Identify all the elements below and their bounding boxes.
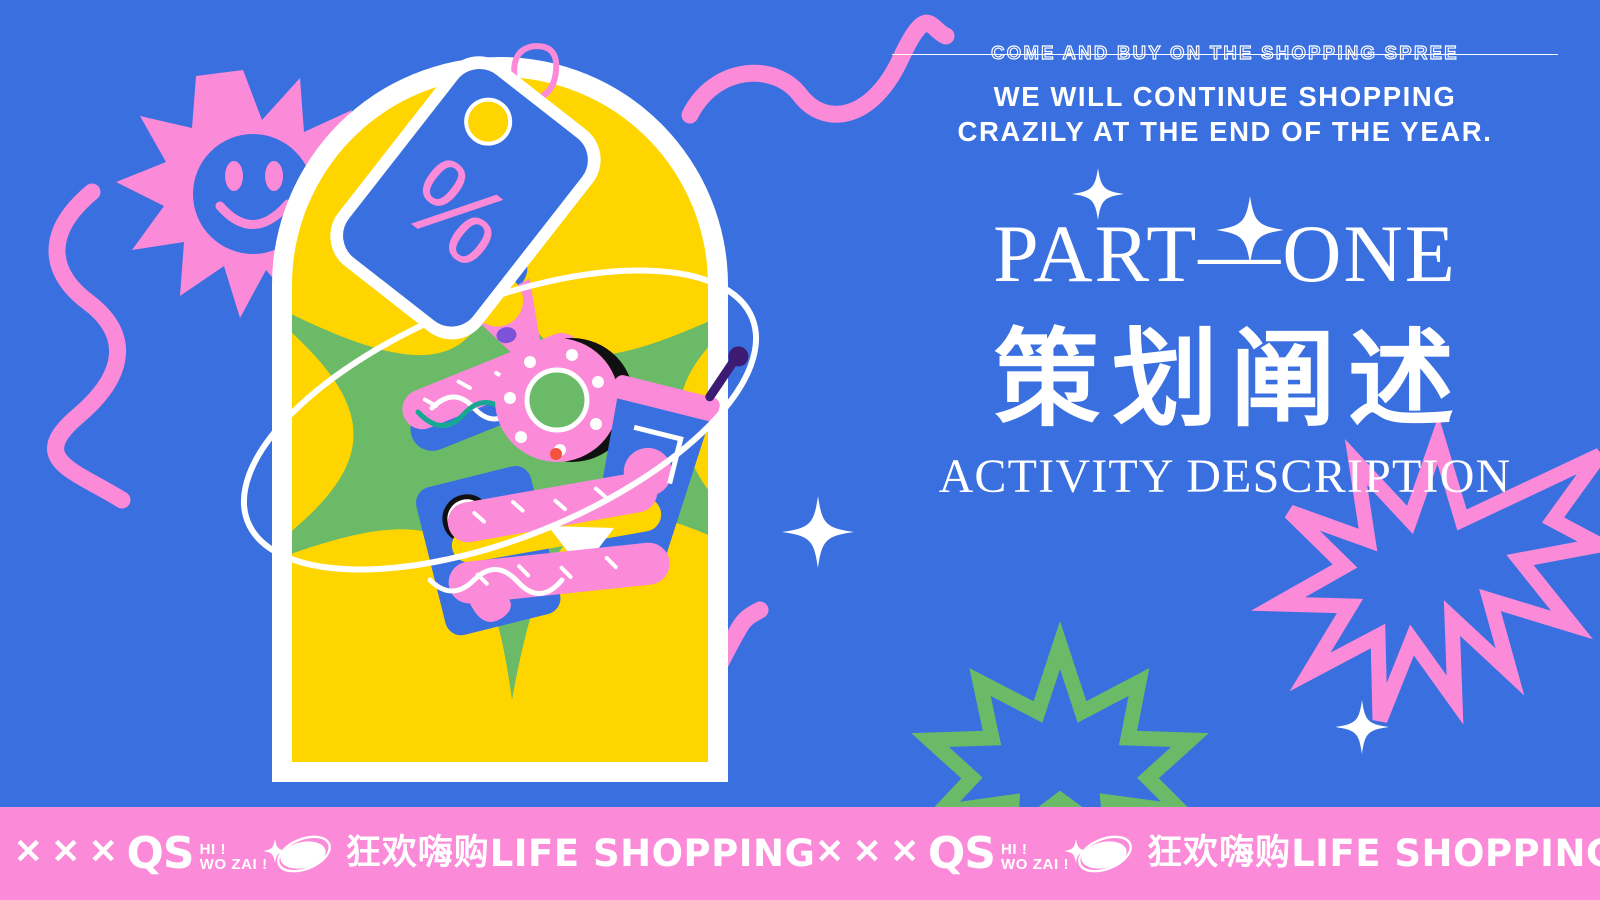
marquee-item: ✕✕✕ <box>815 835 927 872</box>
marquee-item: 狂欢嗨购 <box>274 834 490 874</box>
bottom-marquee-banner: ✕✕✕ QS HI ! WO ZAI ! 狂欢嗨购 LIFE SHOPPING … <box>0 807 1600 900</box>
marquee-item: LIFE SHOPPING <box>490 835 816 872</box>
sparkle-icon <box>262 838 288 864</box>
donut-icon <box>495 338 619 462</box>
headline: WE WILL CONTINUE SHOPPING CRAZILY AT THE… <box>880 79 1570 149</box>
headline-line-1: WE WILL CONTINUE SHOPPING <box>994 81 1457 112</box>
qs-logo: QS HI ! WO ZAI ! <box>928 835 1075 873</box>
qs-logo-top: HI ! <box>1001 842 1069 857</box>
marquee-chinese-label: 狂欢嗨购 <box>1147 836 1291 871</box>
marquee-item: 狂欢嗨购 <box>1075 834 1291 874</box>
qs-logo-side: HI ! WO ZAI ! <box>1001 842 1075 873</box>
qs-logo-bottom: WO ZAI ! <box>200 857 268 872</box>
part-label: PART—ONE <box>880 213 1570 295</box>
sparkle-icon <box>1063 838 1089 864</box>
qs-logo-side: HI ! WO ZAI ! <box>200 842 274 873</box>
qs-logo-main: QS <box>126 835 193 873</box>
subtitle-english: ACTIVITY DESCRIPTION <box>880 453 1570 501</box>
qs-logo-bottom: WO ZAI ! <box>1001 857 1069 872</box>
poster-canvas: % COME AND BUY ON THE SHOPPING SPREE WE … <box>0 0 1600 900</box>
text-column: COME AND BUY ON THE SHOPPING SPREE WE WI… <box>880 44 1570 604</box>
xxx-mark-icon: ✕✕✕ <box>14 835 126 872</box>
marquee-life-shopping: LIFE SHOPPING <box>490 835 816 872</box>
qs-logo-top: HI ! <box>200 842 268 857</box>
marquee-chinese-label: 狂欢嗨购 <box>346 836 490 871</box>
qs-logo: QS HI ! WO ZAI ! <box>126 835 273 873</box>
marquee-item: LIFE SHOPPING <box>1291 835 1600 872</box>
xxx-mark-icon: ✕✕✕ <box>815 835 927 872</box>
marquee-life-shopping: LIFE SHOPPING <box>1291 835 1600 872</box>
headline-line-2: CRAZILY AT THE END OF THE YEAR. <box>880 114 1570 149</box>
kicker-text: COME AND BUY ON THE SHOPPING SPREE <box>880 44 1570 63</box>
qs-logo-main: QS <box>928 835 995 873</box>
chinese-title: 策划阐述 <box>890 323 1570 437</box>
marquee-item: ✕✕✕ <box>14 835 126 872</box>
